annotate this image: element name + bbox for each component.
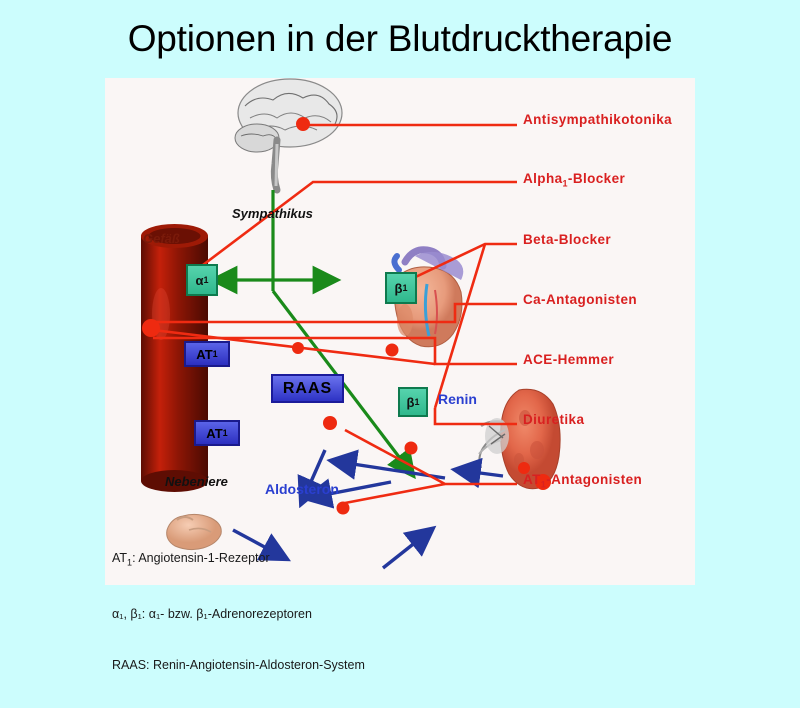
receptor-sub: 1 [213,349,218,359]
diagram-panel: Gefäß Sympathikus Nebeniere Renin Aldost… [105,78,695,585]
drug-label-suffix: -Antagonisten [546,472,642,487]
receptor-box-alpha1-vessel[interactable]: α1 [186,264,218,296]
drug-label-text: AT [523,472,541,487]
organ-label-renin: Renin [438,391,477,407]
legend-line-raas: RAAS: Renin-Angiotensin-Aldosteron-Syste… [112,657,365,674]
organ-label-sympathikus: Sympathikus [232,206,313,221]
receptor-label: β [395,281,403,296]
diagram-graphics [105,78,695,585]
drug-label-at1-antagonisten[interactable]: AT1-Antagonisten [523,472,642,490]
slide-canvas: Optionen in der Blutdrucktherapie [0,0,800,600]
brain-illustration [235,79,342,190]
page-title: Optionen in der Blutdrucktherapie [0,18,800,60]
drug-label-beta-blocker[interactable]: Beta-Blocker [523,232,611,247]
drug-label-text: Ca-Antagonisten [523,292,637,307]
drug-label-ca-antagonisten[interactable]: Ca-Antagonisten [523,292,637,307]
organ-label-nebenniere: Nebeniere [165,474,228,489]
drug-label-text: Antisympathikotonika [523,112,672,127]
receptor-sub: 1 [414,397,419,407]
receptor-sub: 1 [223,428,228,438]
receptor-box-at1-adrenal[interactable]: AT1 [194,420,240,446]
receptor-box-raas[interactable]: RAAS [271,374,344,403]
organ-label-aldosteron: Aldosteron [265,481,339,497]
raas-label: RAAS [283,380,332,398]
drug-label-text: Beta-Blocker [523,232,611,247]
legend-line-at1: AT1: Angiotensin-1-Rezeptor [112,550,365,572]
legend-line-adrenoreceptors: α₁, β₁: α₁- bzw. β₁-Adrenorezeptoren [112,606,365,623]
drug-label-text: Diuretika [523,412,584,427]
drug-label-antisympathikotonika[interactable]: Antisympathikotonika [523,112,672,127]
receptor-sub: 1 [402,283,407,293]
abbreviation-legend: AT1: Angiotensin-1-Rezeptor α₁, β₁: α₁- … [112,516,365,708]
drug-label-alpha1-blocker[interactable]: Alpha1-Blocker [523,171,625,189]
receptor-box-at1-vessel[interactable]: AT1 [184,341,230,367]
receptor-label: α [195,273,203,288]
receptor-sub: 1 [203,275,208,285]
legend-text: : Angiotensin-1-Rezeptor [132,551,270,565]
receptor-label: AT [206,426,222,441]
drug-label-suffix: -Blocker [568,171,625,186]
receptor-label: β [407,395,415,410]
receptor-label: AT [196,347,212,362]
legend-abbr: AT [112,551,127,565]
receptor-box-beta1-kidney[interactable]: β1 [398,387,428,417]
drug-label-diuretika[interactable]: Diuretika [523,412,584,427]
organ-label-gefaess: Gefäß [143,231,180,246]
drug-label-text: ACE-Hemmer [523,352,614,367]
drug-label-text: Alpha [523,171,563,186]
drug-label-ace-hemmer[interactable]: ACE-Hemmer [523,352,614,367]
receptor-box-beta1-heart[interactable]: β1 [385,272,417,304]
